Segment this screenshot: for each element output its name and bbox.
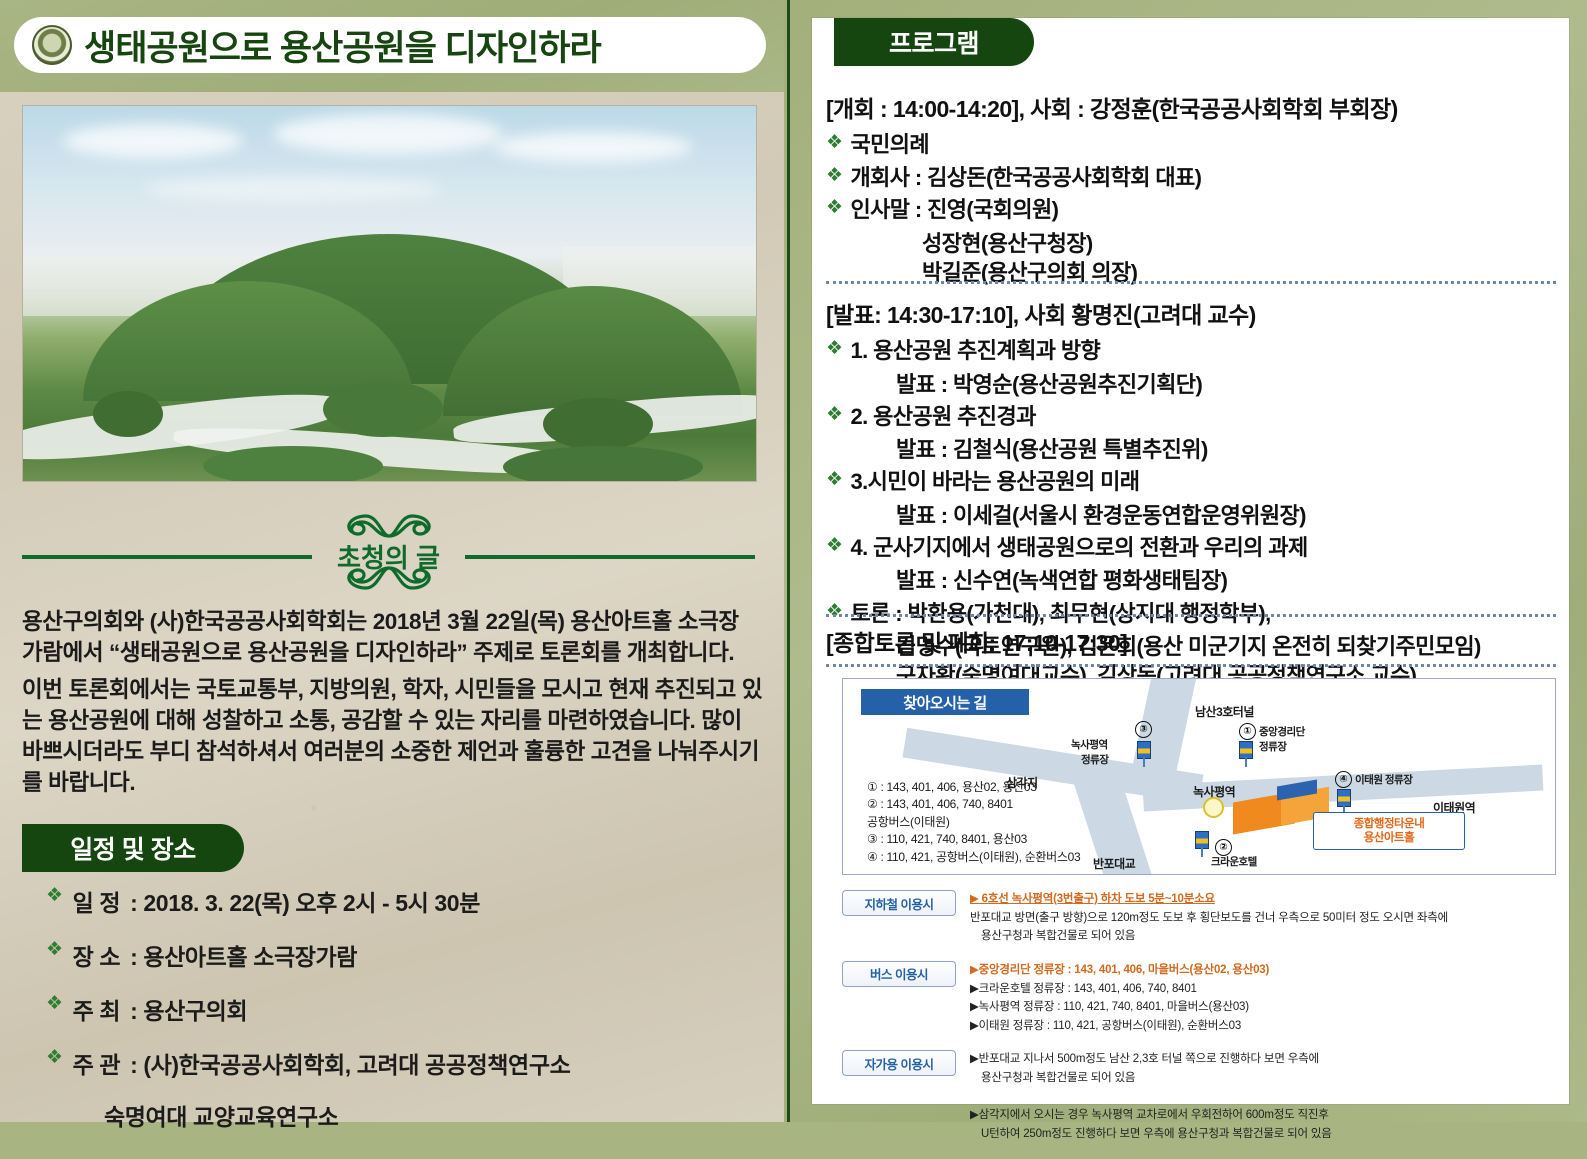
schedule-heading-badge: 일정 및 장소 xyxy=(22,824,244,872)
invitation-heading: 초청의 글 xyxy=(337,538,440,575)
program-item: ❖ 2. 용산공원 추진경과 xyxy=(826,403,1556,432)
schedule-row-value: : 용산아트홀 소극장가람 xyxy=(130,938,357,972)
diamond-bullet-icon: ❖ xyxy=(826,403,842,427)
map-title-badge: 찾아오시는 길 xyxy=(861,689,1029,715)
program-item-text: 1. 용산공원 추진계획과 방향 xyxy=(850,337,1556,366)
program-item-text: 인사말 : 진영(국회의원) xyxy=(850,196,1556,225)
car-directions: ▶반포대교 지나서 500m정도 남산 2,3호 터널 쪽으로 진행하다 보면 … xyxy=(970,1050,1557,1143)
transit-row-subway: 지하철 이용시 ▶ 6호선 녹사평역(3번출구) 하차 도보 5분~10분소요 … xyxy=(842,890,1557,946)
bus-stop-icon xyxy=(1195,831,1209,849)
subway-line-2: 반포대교 방면(출구 방향)으로 120m정도 도보 후 횡단보도를 건너 우측… xyxy=(970,912,1448,924)
opening-session-title: [개회 : 14:00-14:20], 사회 : 강정훈(한국공공사회학회 부회… xyxy=(826,90,1556,124)
bus-legend-line: ③ : 110, 421, 740, 8401, 용산03 xyxy=(867,831,1197,848)
diamond-bullet-icon: ❖ xyxy=(46,992,63,1016)
page-title: 생태공원으로 용산공원을 디자인하라 xyxy=(84,20,601,71)
invitation-paragraph-2: 이번 토론회에서는 국토교통부, 지방의원, 학자, 시민들을 모시고 현재 추… xyxy=(22,674,764,798)
section-separator xyxy=(826,614,1556,617)
left-column: 생태공원으로 용산공원을 디자인하라 xyxy=(0,0,790,1122)
map-label-crown-hotel: 크라운호텔 xyxy=(1211,854,1257,869)
car-line-1: ▶반포대교 지나서 500m정도 남산 2,3호 터널 쪽으로 진행하다 보면 … xyxy=(970,1053,1319,1065)
section-separator xyxy=(826,664,1556,667)
bus-button-label: 버스 이용시 xyxy=(870,964,928,983)
bus-stop-icon xyxy=(1137,741,1151,759)
bus-directions: ▶중앙경리단 정류장 : 143, 401, 406, 마을버스(용산02, 용… xyxy=(970,961,1557,1036)
section-separator xyxy=(826,281,1556,284)
program-subitem: 발표 : 이세걸(서울시 환경운동연합운영위원장) xyxy=(896,501,1556,530)
map-label-noksapyeong: 녹사평역 xyxy=(1071,737,1108,752)
bus-line-4: ▶이태원 정류장 : 110, 421, 공항버스(이태원), 순환버스03 xyxy=(970,1020,1241,1032)
bus-legend-line: ① : 143, 401, 406, 용산02, 용산03 xyxy=(867,779,1197,796)
program-item: ❖ 국민의례 xyxy=(826,131,1556,160)
divider-rule-right xyxy=(465,555,755,559)
bus-stop-icon xyxy=(1337,789,1351,807)
schedule-row-label: 일 정 xyxy=(73,884,121,918)
schedule-row-label: 장 소 xyxy=(73,938,121,972)
map-label-itaewon-stop: 이태원 정류장 xyxy=(1355,772,1412,787)
map-label-noksapyeong-stop: 정류장 xyxy=(1081,752,1108,767)
bus-route-legend: ① : 143, 401, 406, 용산02, 용산03 ② : 143, 4… xyxy=(867,779,1197,866)
program-item: ❖ 3.시민이 바라는 용산공원의 미래 xyxy=(826,468,1556,497)
map-marker-3: ③ xyxy=(1135,721,1152,738)
program-closing-section: [종합토론 및 폐회: 17:10-17:30] xyxy=(826,624,1556,665)
presentation-session-title: [발표: 14:30-17:10], 사회 황명진(고려대 교수) xyxy=(826,296,1556,330)
transit-row-car: 자가용 이용시 ▶반포대교 지나서 500m정도 남산 2,3호 터널 쪽으로 … xyxy=(842,1050,1557,1143)
bus-button[interactable]: 버스 이용시 xyxy=(842,961,956,987)
subway-station-icon xyxy=(1203,797,1224,818)
closing-session-title: [종합토론 및 폐회: 17:10-17:30] xyxy=(826,624,1556,658)
map-title-label: 찾아오시는 길 xyxy=(903,692,986,713)
map-label-namsan-tunnel: 남산3호터널 xyxy=(1195,703,1254,720)
diamond-bullet-icon: ❖ xyxy=(826,600,842,624)
program-heading-label: 프로그램 xyxy=(889,24,979,60)
schedule-row: ❖ 장 소 : 용산아트홀 소극장가람 xyxy=(46,938,766,972)
venue-callout-line2: 용산아트홀 xyxy=(1364,831,1414,845)
bus-legend-line: ④ : 110, 421, 공항버스(이태원), 순환버스03 xyxy=(867,849,1197,866)
schedule-row: ❖ 주 관 : (사)한국공공사회학회, 고려대 공공정책연구소 숙명여대 교양… xyxy=(46,1046,766,1132)
bus-legend-line: ② : 143, 401, 406, 740, 8401 xyxy=(867,796,1197,813)
park-aerial-photo xyxy=(22,105,757,482)
program-item-text: 3.시민이 바라는 용산공원의 미래 xyxy=(850,468,1556,497)
program-item-text: 2. 용산공원 추진경과 xyxy=(850,403,1556,432)
program-subitem: 발표 : 박영순(용산공원추진기획단) xyxy=(896,370,1556,399)
subway-button[interactable]: 지하철 이용시 xyxy=(842,890,956,916)
schedule-row: ❖ 주 최 : 용산구의회 xyxy=(46,992,766,1026)
directions-map[interactable]: 찾아오시는 길 남산3호터널 ① 중앙경리단 정류장 ③ 녹사평역 정류장 삼각… xyxy=(842,678,1556,875)
invitation-paragraph-1: 용산구의회와 (사)한국공공사회학회는 2018년 3월 22일(목) 용산아트… xyxy=(22,606,764,668)
flourish-ornament-icon xyxy=(314,512,464,538)
bus-stop-icon xyxy=(1239,741,1253,759)
transit-directions: 지하철 이용시 ▶ 6호선 녹사평역(3번출구) 하차 도보 5분~10분소요 … xyxy=(842,890,1557,1159)
map-marker-4: ④ xyxy=(1335,771,1352,788)
schedule-row-value: : (사)한국공공사회학회, 고려대 공공정책연구소 xyxy=(130,1046,570,1080)
diamond-bullet-icon: ❖ xyxy=(826,164,842,188)
diamond-bullet-icon: ❖ xyxy=(826,534,842,558)
program-item: ❖ 4. 군사기지에서 생태공원으로의 전환과 우리의 과제 xyxy=(826,534,1556,563)
car-button[interactable]: 자가용 이용시 xyxy=(842,1050,956,1076)
schedule-row-label: 주 관 xyxy=(73,1046,121,1080)
schedule-row: ❖ 일 정 : 2018. 3. 22(목) 오후 2시 - 5시 30분 xyxy=(46,884,766,918)
program-subitem: 발표 : 신수연(녹색연합 평화생태팀장) xyxy=(896,566,1556,595)
map-label-jungang: 중앙경리단 xyxy=(1259,724,1305,739)
venue-callout: 종합행정타운내 용산아트홀 xyxy=(1313,812,1465,850)
invitation-divider: 초청의 글 xyxy=(22,520,755,592)
diamond-bullet-icon: ❖ xyxy=(46,884,63,908)
program-item-text: 개회사 : 김상돈(한국공공사회학회 대표) xyxy=(850,164,1556,193)
venue-callout-line1: 종합행정타운내 xyxy=(1354,817,1425,831)
subway-directions: ▶ 6호선 녹사평역(3번출구) 하차 도보 5분~10분소요 반포대교 방면(… xyxy=(970,890,1557,946)
program-subitem: 성장현(용산구청장) xyxy=(922,229,1556,258)
invitation-body: 용산구의회와 (사)한국공공사회학회는 2018년 3월 22일(목) 용산아트… xyxy=(22,606,764,804)
subway-line-1: ▶ 6호선 녹사평역(3번출구) 하차 도보 5분~10분소요 xyxy=(970,893,1215,905)
bus-line-3: ▶녹사평역 정류장 : 110, 421, 740, 8401, 마을버스(용산… xyxy=(970,1001,1249,1013)
diamond-bullet-icon: ❖ xyxy=(46,938,63,962)
diamond-bullet-icon: ❖ xyxy=(826,468,842,492)
subway-line-3: 용산구청과 복합건물로 되어 있음 xyxy=(970,927,1557,946)
program-subitem: 발표 : 김철식(용산공원 특별추진위) xyxy=(896,435,1556,464)
poster-title-banner: 생태공원으로 용산공원을 디자인하라 xyxy=(14,17,766,73)
schedule-row-value: : 2018. 3. 22(목) 오후 2시 - 5시 30분 xyxy=(130,884,480,918)
seal-emblem-icon xyxy=(32,25,72,65)
poster-root: 생태공원으로 용산공원을 디자인하라 xyxy=(0,0,1587,1122)
bus-legend-line: 공항버스(이태원) xyxy=(867,814,1197,831)
column-divider xyxy=(787,0,790,1122)
transit-row-bus: 버스 이용시 ▶중앙경리단 정류장 : 143, 401, 406, 마을버스(… xyxy=(842,961,1557,1036)
diamond-bullet-icon: ❖ xyxy=(46,1046,63,1070)
program-item: ❖ 개회사 : 김상돈(한국공공사회학회 대표) xyxy=(826,164,1556,193)
diamond-bullet-icon: ❖ xyxy=(826,337,842,361)
schedule-list: ❖ 일 정 : 2018. 3. 22(목) 오후 2시 - 5시 30분 ❖ … xyxy=(46,884,766,1152)
subway-button-label: 지하철 이용시 xyxy=(865,894,934,913)
diamond-bullet-icon: ❖ xyxy=(826,131,842,155)
program-item-text: 국민의례 xyxy=(850,131,1556,160)
program-opening-section: [개회 : 14:00-14:20], 사회 : 강정훈(한국공공사회학회 부회… xyxy=(826,90,1556,287)
diamond-bullet-icon: ❖ xyxy=(826,196,842,220)
car-line-4: U턴하여 250m정도 진행하다 보면 우측에 용산구청과 복합건물로 되어 있… xyxy=(970,1125,1557,1144)
car-button-label: 자가용 이용시 xyxy=(865,1054,934,1073)
bus-line-2: ▶크라운호텔 정류장 : 143, 401, 406, 740, 8401 xyxy=(970,983,1197,995)
map-label-jungang-stop: 정류장 xyxy=(1259,739,1286,754)
program-item: ❖ 인사말 : 진영(국회의원) xyxy=(826,196,1556,225)
car-line-3: ▶삼각지에서 오시는 경우 녹사평역 교차로에서 우회전하어 600m정도 직진… xyxy=(970,1109,1329,1121)
bus-line-1: ▶중앙경리단 정류장 : 143, 401, 406, 마을버스(용산02, 용… xyxy=(970,964,1269,976)
divider-rule-left xyxy=(22,555,312,559)
car-line-2: 용산구청과 복합건물로 되어 있음 xyxy=(970,1069,1557,1088)
schedule-heading-label: 일정 및 장소 xyxy=(70,830,195,866)
schedule-row-sub: 숙명여대 교양교육연구소 xyxy=(104,1098,766,1132)
right-column: 프로그램 [개회 : 14:00-14:20], 사회 : 강정훈(한국공공사회… xyxy=(812,18,1569,1104)
schedule-row-value: : 용산구의회 xyxy=(130,992,247,1026)
program-item-text: 4. 군사기지에서 생태공원으로의 전환과 우리의 과제 xyxy=(850,534,1556,563)
program-item: ❖ 1. 용산공원 추진계획과 방향 xyxy=(826,337,1556,366)
map-marker-1: ① xyxy=(1239,723,1256,740)
program-heading-badge: 프로그램 xyxy=(834,18,1034,66)
schedule-row-label: 주 최 xyxy=(73,992,121,1026)
